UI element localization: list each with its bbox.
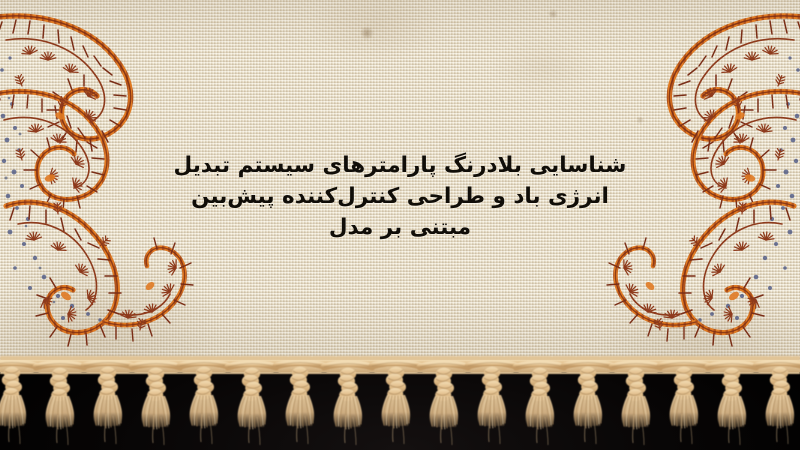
slide-canvas: شناسایی بلادرنگ پارامترهای سیستم تبدیل ا… (0, 0, 800, 450)
title-line-1: شناسایی بلادرنگ پارامترهای سیستم تبدیل (0, 150, 800, 181)
title-line-2: انرژی باد و طراحی کنترل‌کننده پیش‌بین (0, 181, 800, 212)
knotted-tassel-fringe (0, 360, 800, 450)
title-line-3: مبتنی بر مدل (0, 212, 800, 243)
page-title: شناسایی بلادرنگ پارامترهای سیستم تبدیل ا… (0, 150, 800, 243)
